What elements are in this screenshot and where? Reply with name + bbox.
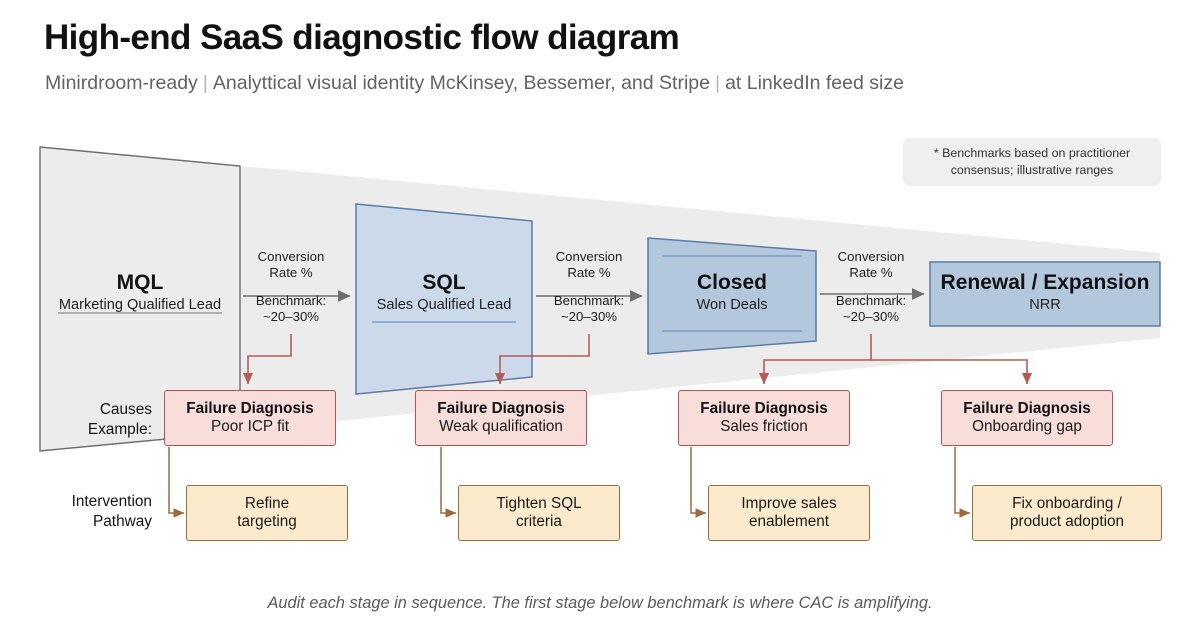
stage-closed-name: Closed	[648, 272, 816, 294]
intervention-box-2[interactable]: Tighten SQL criteria	[458, 485, 620, 541]
diagram-canvas: High-end SaaS diagnostic flow diagram Mi…	[0, 0, 1200, 630]
diagnosis-box-4[interactable]: Failure Diagnosis Onboarding gap	[941, 390, 1113, 446]
connector-2-rate-line2: Rate %	[535, 265, 643, 281]
connector-3-benchmark-line2: ~20–30%	[817, 309, 925, 325]
diagnosis-1-heading: Failure Diagnosis	[186, 400, 314, 417]
intervention-1-line1: Refine	[237, 495, 297, 513]
elbow-connector-3	[691, 447, 706, 513]
connector-1-benchmark-line1: Benchmark:	[237, 293, 345, 309]
connector-1-benchmark-line2: ~20–30%	[237, 309, 345, 325]
stage-mql-sub: Marketing Qualified Lead	[40, 297, 240, 313]
intervention-2-line2: criteria	[496, 513, 581, 531]
connector-3-benchmark: Benchmark: ~20–30%	[817, 293, 925, 325]
intervention-2-line1: Tighten SQL	[496, 495, 581, 513]
diagnosis-4-body: Onboarding gap	[972, 418, 1082, 436]
connector-2-benchmark: Benchmark: ~20–30%	[535, 293, 643, 325]
connector-3-rate-line1: Conversion	[817, 249, 925, 265]
intervention-3-line2: enablement	[741, 513, 836, 531]
row-label-intervention: Intervention Pathway	[0, 492, 152, 532]
diagnosis-3-heading: Failure Diagnosis	[700, 400, 828, 417]
connector-2-rate-line1: Conversion	[535, 249, 643, 265]
connector-1-rate-line2: Rate %	[237, 265, 345, 281]
connector-1-benchmark: Benchmark: ~20–30%	[237, 293, 345, 325]
intervention-box-4[interactable]: Fix onboarding / product adoption	[972, 485, 1162, 541]
diagnosis-box-2[interactable]: Failure Diagnosis Weak qualification	[415, 390, 587, 446]
diagnosis-2-body: Weak qualification	[439, 418, 563, 436]
row-label-intervention-line1: Intervention	[0, 492, 152, 512]
connector-2-rate: Conversion Rate %	[535, 249, 643, 281]
row-label-causes: Causes Example:	[0, 400, 152, 440]
stage-renewal-sub: NRR	[930, 297, 1160, 313]
connector-2-benchmark-line2: ~20–30%	[535, 309, 643, 325]
intervention-box-1[interactable]: Refine targeting	[186, 485, 348, 541]
diagnosis-box-3[interactable]: Failure Diagnosis Sales friction	[678, 390, 850, 446]
intervention-3-line1: Improve sales	[741, 495, 836, 513]
footer-caption: Audit each stage in sequence. The first …	[0, 594, 1200, 613]
diagnosis-3-body: Sales friction	[720, 418, 808, 436]
intervention-4-line2: product adoption	[1010, 513, 1124, 531]
row-label-intervention-line2: Pathway	[0, 512, 152, 532]
stage-closed-sub: Won Deals	[648, 297, 816, 313]
elbow-connector-1	[169, 447, 184, 513]
connector-2-benchmark-line1: Benchmark:	[535, 293, 643, 309]
intervention-box-3[interactable]: Improve sales enablement	[708, 485, 870, 541]
row-label-causes-line1: Causes	[0, 400, 152, 420]
intervention-4-line1: Fix onboarding /	[1010, 495, 1124, 513]
row-label-causes-line2: Example:	[0, 420, 152, 440]
connector-1-rate-line1: Conversion	[237, 249, 345, 265]
stage-renewal-name: Renewal / Expansion	[930, 272, 1160, 294]
diagnosis-2-heading: Failure Diagnosis	[437, 400, 565, 417]
connector-1-rate: Conversion Rate %	[237, 249, 345, 281]
stage-label-sql: SQL Sales Qualified Lead	[356, 272, 532, 313]
intervention-1-line2: targeting	[237, 513, 297, 531]
diagnosis-box-1[interactable]: Failure Diagnosis Poor ICP fit	[164, 390, 336, 446]
elbow-connector-2	[441, 447, 456, 513]
elbow-connector-4	[955, 447, 970, 513]
connector-3-rate-line2: Rate %	[817, 265, 925, 281]
diagnosis-1-body: Poor ICP fit	[211, 418, 289, 436]
diagnosis-4-heading: Failure Diagnosis	[963, 400, 1091, 417]
stage-sql-sub: Sales Qualified Lead	[356, 297, 532, 313]
stage-label-renewal: Renewal / Expansion NRR	[930, 272, 1160, 313]
connector-3-rate: Conversion Rate %	[817, 249, 925, 281]
stage-label-closed: Closed Won Deals	[648, 272, 816, 313]
stage-label-mql: MQL Marketing Qualified Lead	[40, 272, 240, 313]
stage-sql-name: SQL	[356, 272, 532, 294]
connector-3-benchmark-line1: Benchmark:	[817, 293, 925, 309]
stage-mql-name: MQL	[40, 272, 240, 294]
